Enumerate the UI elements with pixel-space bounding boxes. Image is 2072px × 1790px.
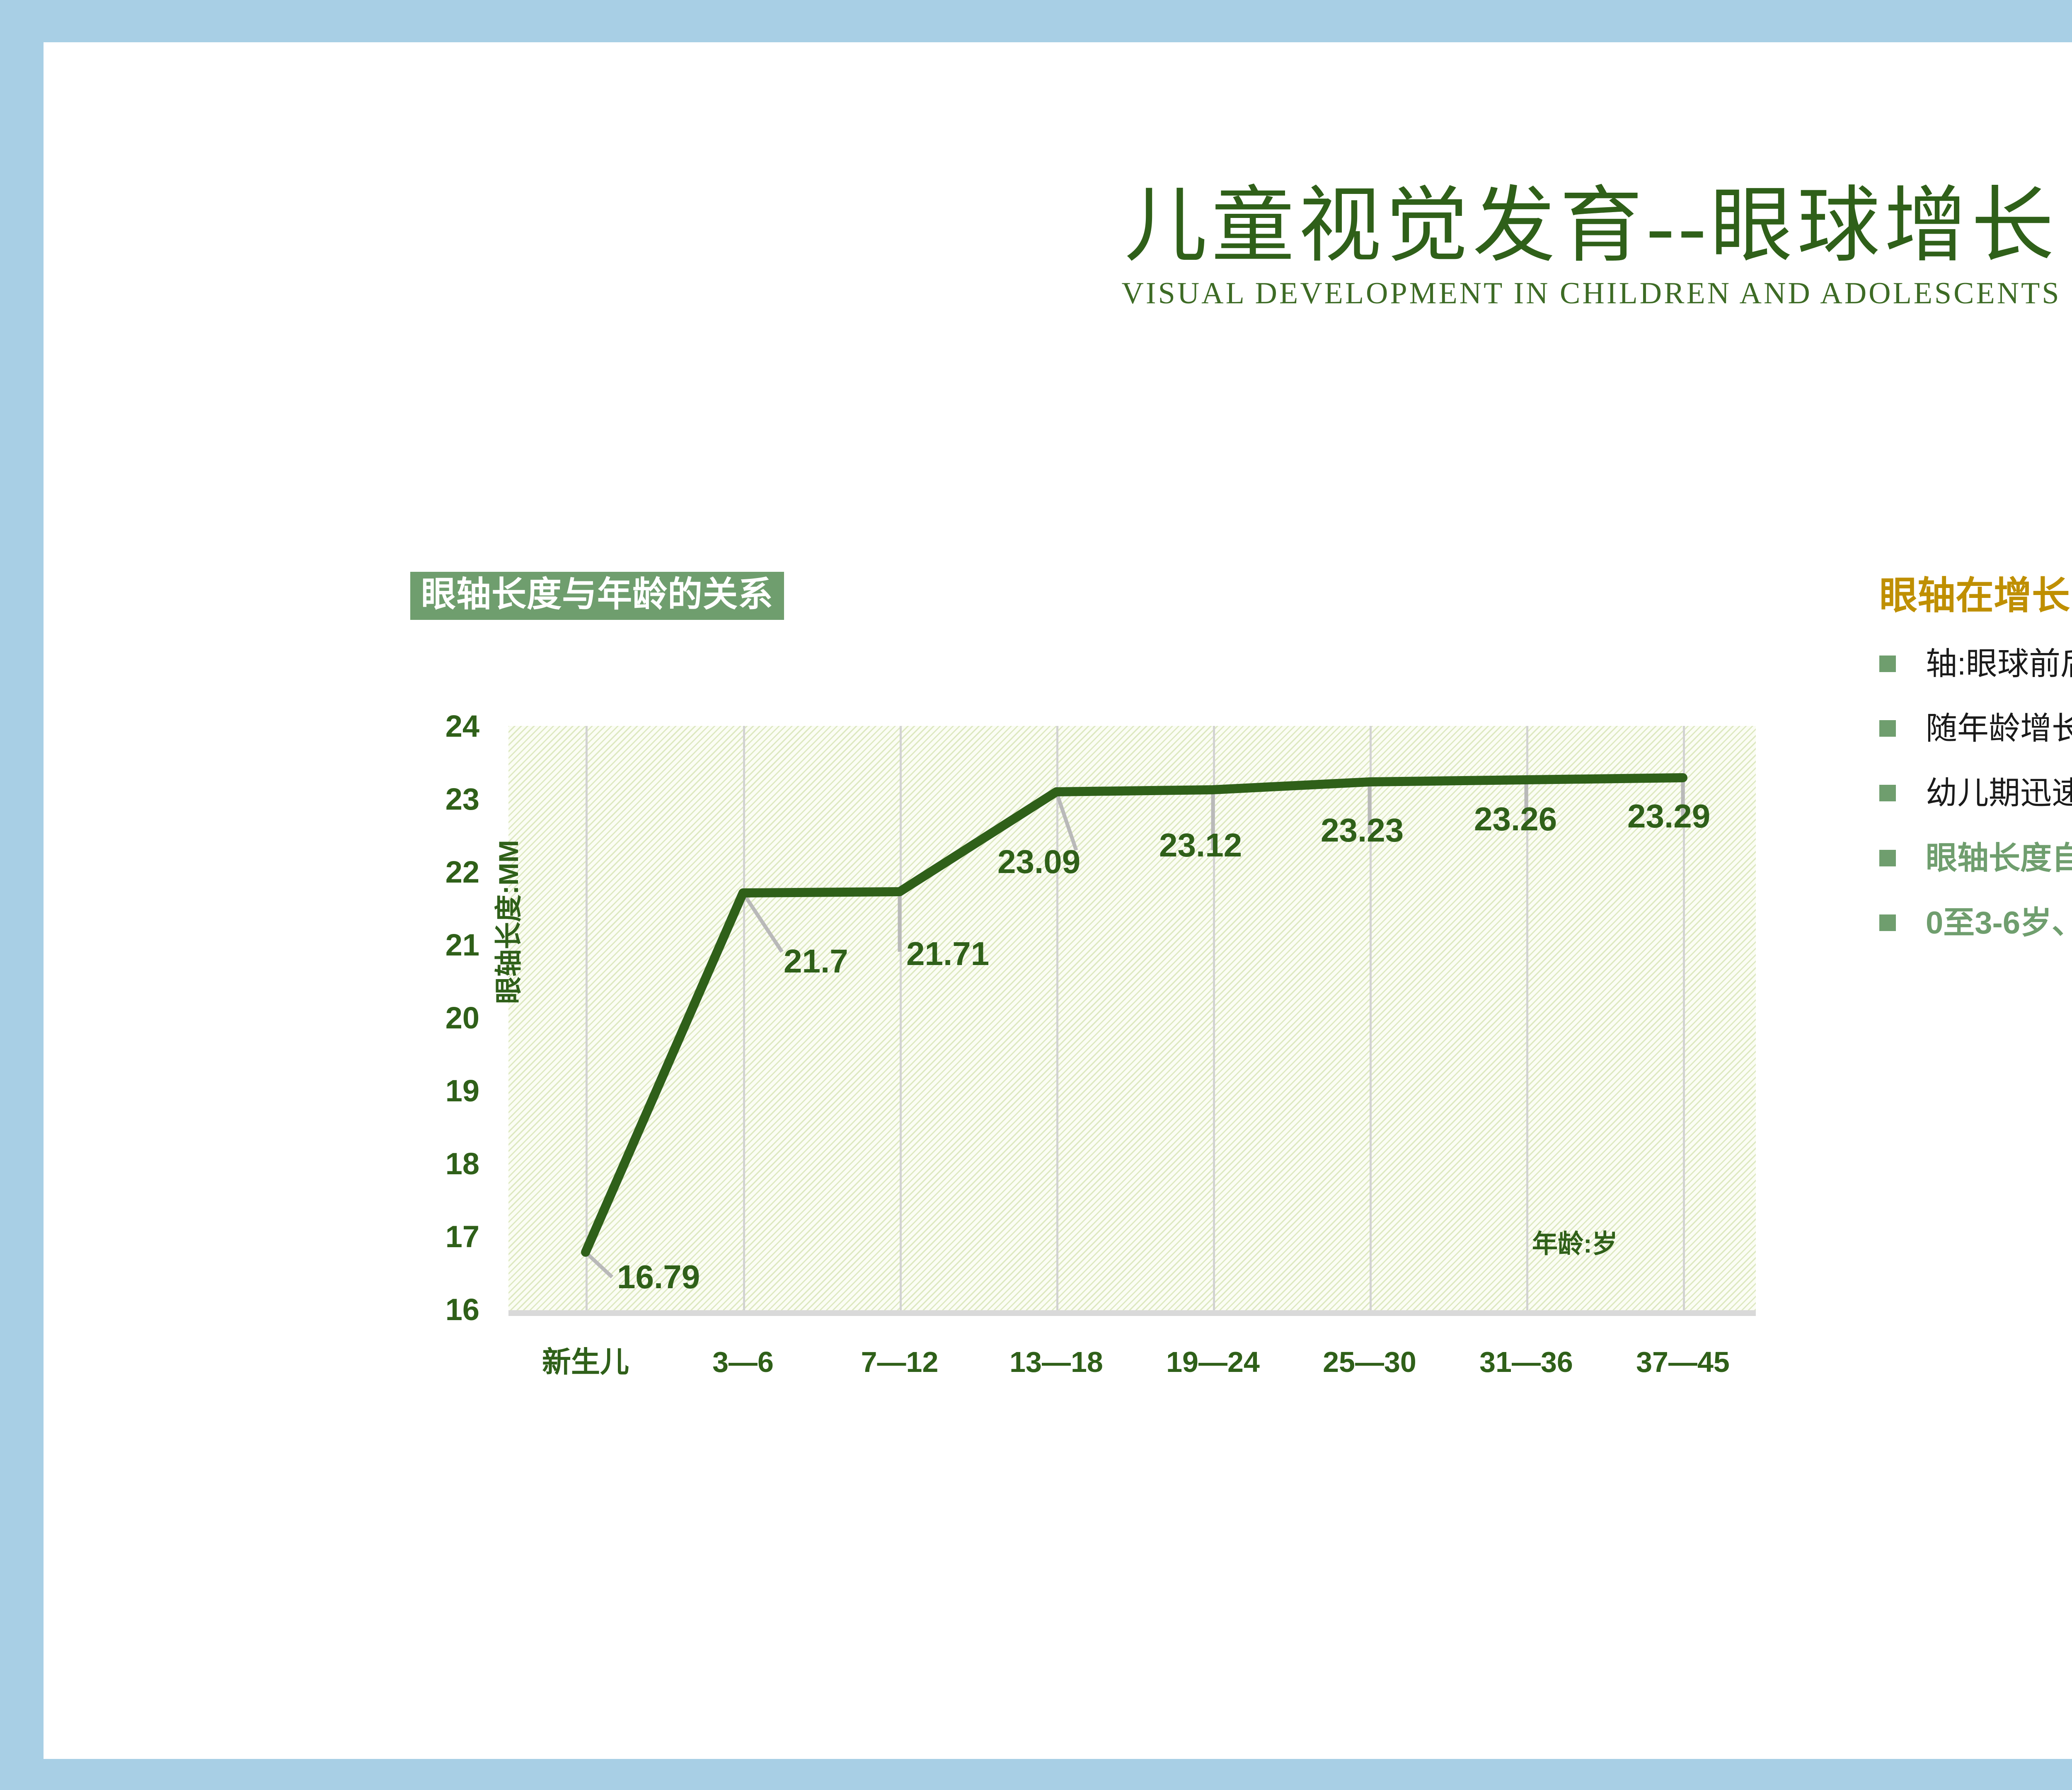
bullet-text: 随年龄增长；: [1926, 706, 2072, 752]
chart-line-series: [586, 778, 1683, 1252]
list-item: 幼儿期迅速增长,而后增速放缓；: [1879, 771, 2072, 816]
list-item: 轴:眼球前后径的长度；: [1879, 641, 2072, 687]
chart-title: 眼轴长度与年龄的关系: [410, 572, 784, 620]
square-bullet-icon: [1879, 914, 1896, 931]
list-item: 0至3-6岁、7-12岁至13-18岁有两个增长高峰区,18岁之后趋于稳定;: [1879, 900, 2072, 946]
x-tick-4: 19—24: [1126, 1347, 1300, 1376]
y-tick-17: 17: [380, 1222, 479, 1252]
bullet-text: 幼儿期迅速增长,而后增速放缓；: [1926, 771, 2072, 816]
bullet-text: 轴:眼球前后径的长度；: [1926, 641, 2072, 687]
data-label-2: 21.71: [906, 937, 989, 970]
y-tick-18: 18: [380, 1149, 479, 1179]
square-bullet-icon: [1879, 785, 1896, 801]
x-tick-3: 13—18: [969, 1347, 1143, 1376]
x-tick-0: 新生儿: [499, 1347, 673, 1376]
data-label-3: 23.09: [997, 845, 1080, 878]
x-tick-1: 3—6: [656, 1347, 830, 1376]
bullet-text: 眼轴长度自出生后不断增长;: [1926, 836, 2072, 881]
y-tick-16: 16: [380, 1294, 479, 1325]
data-label-6: 23.26: [1474, 803, 1557, 836]
data-label-0: 16.79: [617, 1260, 700, 1294]
y-tick-24: 24: [380, 711, 479, 742]
square-bullet-icon: [1879, 656, 1896, 672]
x-tick-7: 37—45: [1596, 1347, 1770, 1376]
data-label-4: 23.12: [1159, 829, 1242, 862]
y-tick-20: 20: [380, 1003, 479, 1033]
chart-series-svg: [508, 726, 1756, 1310]
square-bullet-icon: [1879, 720, 1896, 737]
title-block: 儿童视觉发育--眼球增长 VISUAL DEVELOPMENT IN CHILD…: [44, 183, 2072, 311]
data-label-5: 23.23: [1321, 814, 1404, 847]
x-tick-5: 25—30: [1283, 1347, 1457, 1376]
data-label-7: 23.29: [1627, 800, 1710, 833]
panel-heading: 眼轴在增长:: [1879, 577, 2072, 615]
page-title: 儿童视觉发育--眼球增长: [44, 183, 2072, 270]
info-panel: 眼轴在增长: 轴:眼球前后径的长度； 随年龄增长； 幼儿期迅速增长,而后增速放缓…: [1879, 577, 2072, 965]
chart-x-axis-line: [508, 1310, 1756, 1316]
y-tick-19: 19: [380, 1076, 479, 1106]
leader-lines: [586, 778, 1683, 1277]
square-bullet-icon: [1879, 850, 1896, 866]
y-tick-23: 23: [380, 784, 479, 815]
list-item: 随年龄增长；: [1879, 706, 2072, 752]
x-tick-6: 31—36: [1439, 1347, 1613, 1376]
data-label-1: 21.7: [784, 945, 848, 978]
chart-plot-wrapper: 眼轴长度:MM 年龄:岁 24 23 22 21 20 19 18 17 16: [508, 726, 1756, 1310]
page-subtitle: VISUAL DEVELOPMENT IN CHILDREN AND ADOLE…: [44, 276, 2072, 311]
x-tick-2: 7—12: [813, 1347, 987, 1376]
list-item: 眼轴长度自出生后不断增长;: [1879, 836, 2072, 881]
y-tick-21: 21: [380, 930, 479, 960]
bullet-text: 0至3-6岁、7-12岁至13-18岁有两个增长高峰区,18岁之后趋于稳定;: [1926, 900, 2072, 946]
chart-card: 眼轴长度与年龄的关系 眼轴长度:MM 年龄:岁 24 23 22 21 20 1…: [363, 560, 1792, 1389]
y-tick-22: 22: [380, 857, 479, 888]
slide-canvas: 儿童视觉发育--眼球增长 VISUAL DEVELOPMENT IN CHILD…: [44, 42, 2072, 1759]
